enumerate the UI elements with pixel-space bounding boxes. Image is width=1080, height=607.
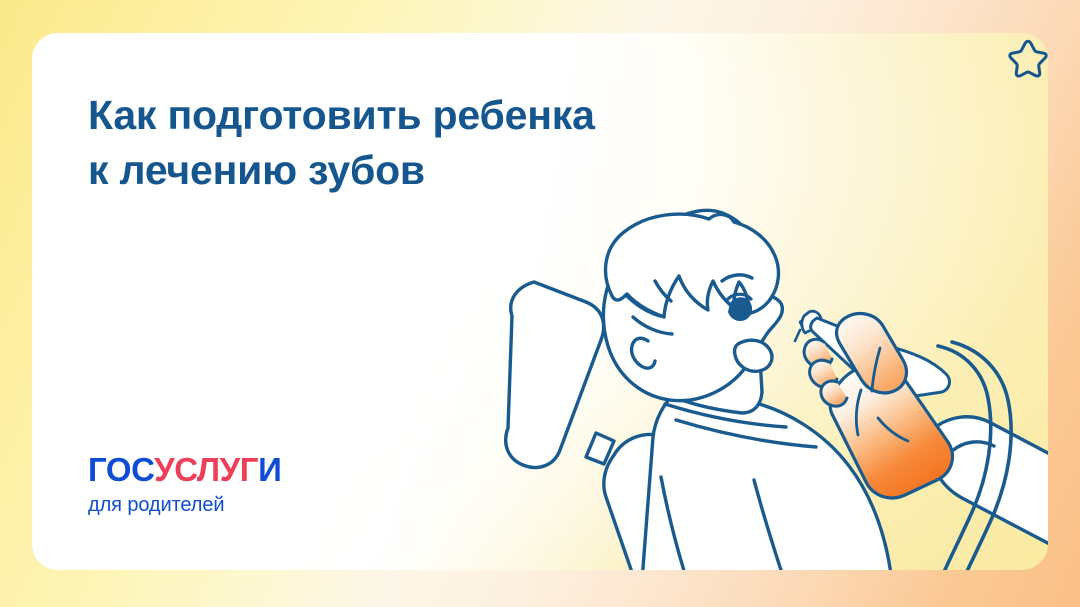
logo-subtitle: для родителей — [88, 495, 281, 515]
logo-part-i: И — [258, 451, 281, 488]
logo-part-uslug: УСЛУГ — [154, 451, 258, 488]
star-icon — [1006, 36, 1050, 80]
page-title: Как подготовить ребенка к лечению зубов — [88, 88, 595, 197]
logo-part-gos: ГОС — [88, 451, 154, 488]
poster-canvas: Как подготовить ребенка к лечению зубов … — [0, 0, 1080, 607]
logo-wordmark: ГОСУСЛУГИ — [88, 453, 281, 486]
gosuslugi-logo[interactable]: ГОСУСЛУГИ для родителей — [88, 453, 281, 515]
